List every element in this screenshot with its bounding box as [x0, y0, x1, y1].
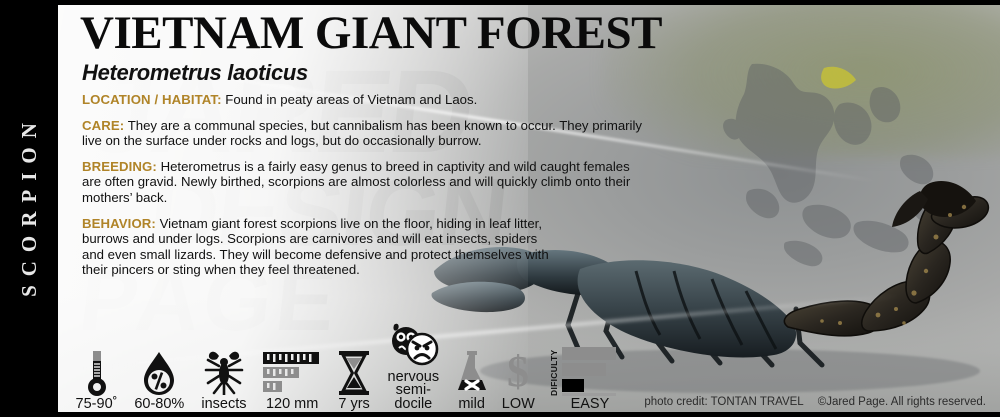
section-location-lead: LOCATION / HABITAT: — [82, 92, 222, 107]
spine-label: SCORPION — [17, 114, 42, 303]
svg-text:$: $ — [507, 350, 529, 396]
difficulty-bar-3 — [562, 379, 584, 392]
venom-flask-icon — [453, 348, 491, 396]
section-breeding: BREEDING: Heterometrus is a fairly easy … — [82, 159, 642, 206]
stat-lifespan: 7 yrs — [328, 331, 380, 411]
top-rule — [0, 0, 1000, 5]
stat-difficulty: DIFICULTY EASY — [540, 331, 626, 411]
thermometer-icon — [84, 348, 110, 396]
stat-temperature-label: 75-90˚ — [76, 398, 118, 412]
scientific-name: Heterometrus laoticus — [82, 60, 870, 86]
spine-label-wrap: SCORPION — [0, 0, 58, 417]
difficulty-bars-icon: DIFICULTY — [549, 348, 616, 396]
content-column: VIETNAM GIANT FOREST Heterometrus laotic… — [80, 6, 870, 288]
temperament-faces-icon — [386, 323, 440, 369]
stat-temperature: 75-90˚ — [66, 331, 127, 411]
section-behavior-lead: BEHAVIOR: — [82, 216, 156, 231]
page-title: VIETNAM GIANT FOREST — [80, 10, 870, 58]
section-location-body: Found in peaty areas of Vietnam and Laos… — [222, 92, 478, 107]
stat-temperament-label: nervous semi-docile — [380, 371, 446, 412]
stat-lifespan-label: 7 yrs — [338, 398, 369, 412]
bottom-rule — [0, 412, 1000, 417]
ruler-size-icon — [263, 348, 321, 396]
credits: photo credit: TONTAN TRAVEL©Jared Page. … — [644, 396, 986, 408]
hourglass-icon — [336, 348, 372, 396]
stat-size: 120 mm — [256, 331, 328, 411]
stat-food: insects — [192, 331, 257, 411]
section-care: CARE: They are a communal species, but c… — [82, 118, 642, 149]
section-breeding-body: Heterometrus is a fairly easy genus to b… — [82, 159, 630, 205]
section-breeding-lead: BREEDING: — [82, 159, 157, 174]
photo-credit: photo credit: TONTAN TRAVEL — [644, 396, 803, 408]
stat-price-label: LOW — [502, 398, 535, 412]
copyright-notice: ©Jared Page. All rights reserved. — [818, 396, 986, 408]
stat-temperament: nervous semi-docile — [380, 331, 446, 411]
humidity-droplet-icon — [141, 348, 177, 396]
difficulty-axis-label: DIFICULTY — [549, 350, 559, 396]
stat-venom-label: mild — [458, 398, 485, 412]
species-care-label: JARED DESIGN PAGE — [0, 0, 1000, 417]
section-location: LOCATION / HABITAT: Found in peaty areas… — [82, 92, 552, 108]
difficulty-bar-1 — [562, 347, 616, 360]
stat-humidity: 60-80% — [127, 331, 192, 411]
section-behavior: BEHAVIOR: Vietnam giant forest scorpions… — [82, 216, 552, 278]
insect-icon — [203, 348, 245, 396]
stat-venom: mild — [447, 331, 497, 411]
price-dollar-icon: $ — [503, 348, 533, 396]
stat-humidity-label: 60-80% — [134, 398, 184, 412]
section-care-lead: CARE: — [82, 118, 124, 133]
stat-food-label: insects — [201, 398, 246, 412]
difficulty-bar-2 — [562, 363, 606, 376]
care-icon-strip: 75-90˚ 60-80% — [66, 331, 626, 411]
section-care-body: They are a communal species, but canniba… — [82, 118, 642, 149]
stat-size-label: 120 mm — [266, 398, 318, 412]
stat-price: $ LOW — [497, 331, 540, 411]
stat-difficulty-label: EASY — [571, 398, 610, 412]
